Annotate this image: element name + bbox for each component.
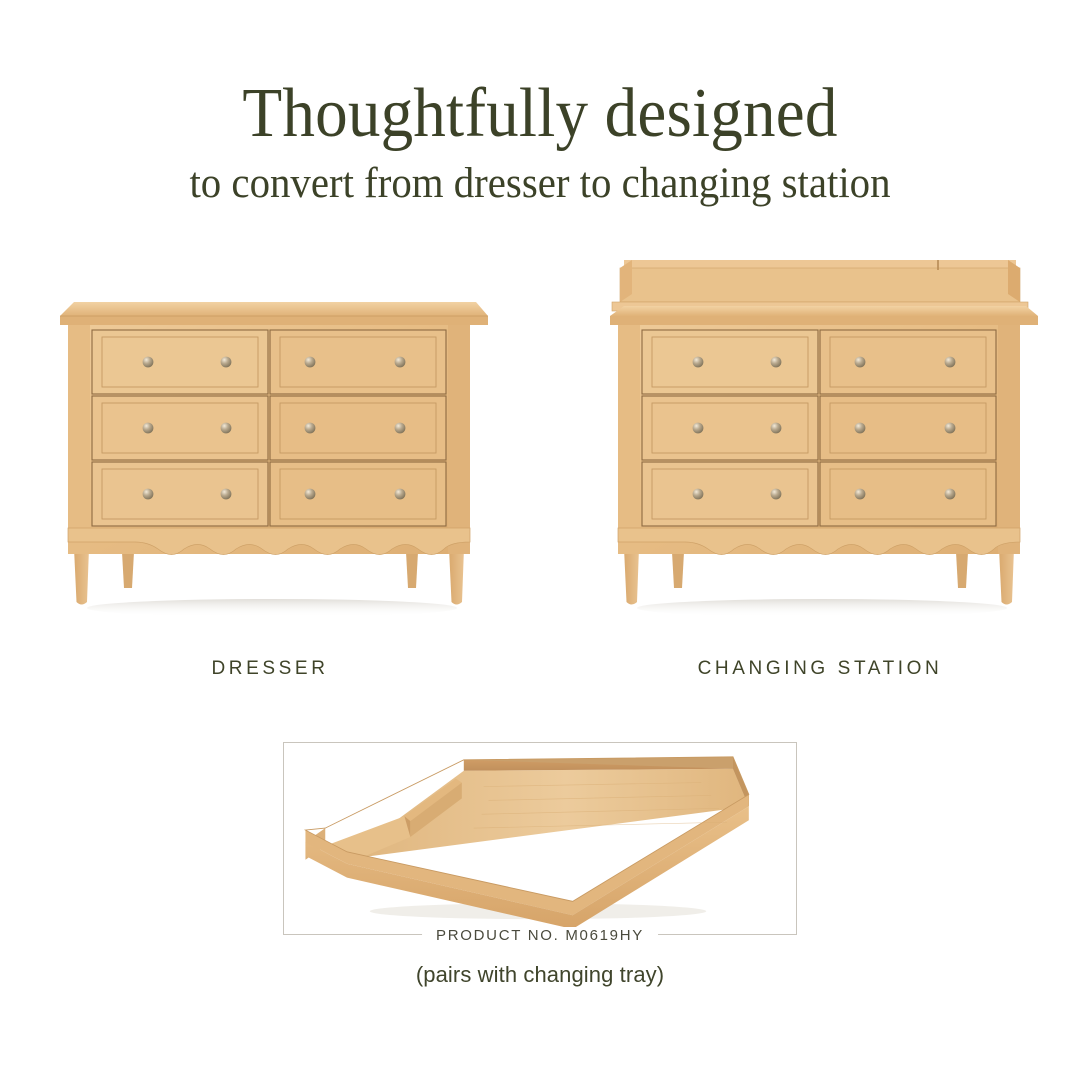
caption-changing-station: CHANGING STATION [590,658,1050,680]
page-title: Thoughtfully designed [38,78,1042,149]
changing-station-illustration [590,290,1050,650]
drawer-knob [771,423,782,434]
changing-tray-illustration [284,743,796,934]
drawer-knob [855,423,866,434]
dresser-legs [623,546,1015,605]
right-stile [448,318,470,554]
product-comparison: DRESSER [0,290,1080,690]
drawer-knob [221,357,232,368]
drawer-knob [945,423,956,434]
drawer-knob [305,357,316,368]
drawer-knob [693,423,704,434]
product-dresser: DRESSER [40,290,500,690]
changing-tray-topper [612,260,1028,311]
drawer-knob [395,423,406,434]
dresser-illustration [40,290,500,650]
left-stile [68,318,90,554]
marketing-graphic: Thoughtfully designed to convert from dr… [0,0,1080,1080]
drawer-knob [945,357,956,368]
drawer-knob [143,489,154,500]
floor-shadow [637,599,1007,617]
headline-block: Thoughtfully designed to convert from dr… [0,78,1080,207]
drawer-knob [305,489,316,500]
product-number-badge: PRODUCT NO. M0619HY [422,927,658,945]
drawer-knob [143,357,154,368]
drawer-knob [221,489,232,500]
drawer-knob [945,489,956,500]
right-stile [998,318,1020,554]
drawer-knob [395,357,406,368]
product-number-label: PRODUCT NO. M0619HY [436,927,644,944]
drawer-knob [693,489,704,500]
pairs-with-note: (pairs with changing tray) [0,962,1080,988]
drawer-knob [221,423,232,434]
left-stile [618,318,640,554]
drawer-knob [771,489,782,500]
drawer-knob [693,357,704,368]
drawer-knob [143,423,154,434]
caption-dresser: DRESSER [40,658,500,680]
dresser-top [610,306,1038,325]
floor-shadow [87,599,457,617]
product-changing-station: CHANGING STATION [590,290,1050,690]
dresser-top [60,302,488,325]
drawer-knob [855,357,866,368]
page-subtitle: to convert from dresser to changing stat… [27,161,1053,206]
drawer-knob [771,357,782,368]
drawer-knob [305,423,316,434]
dresser-legs [73,546,465,605]
drawer-knob [855,489,866,500]
drawer-knob [395,489,406,500]
tray-callout-box: PRODUCT NO. M0619HY [283,742,797,935]
